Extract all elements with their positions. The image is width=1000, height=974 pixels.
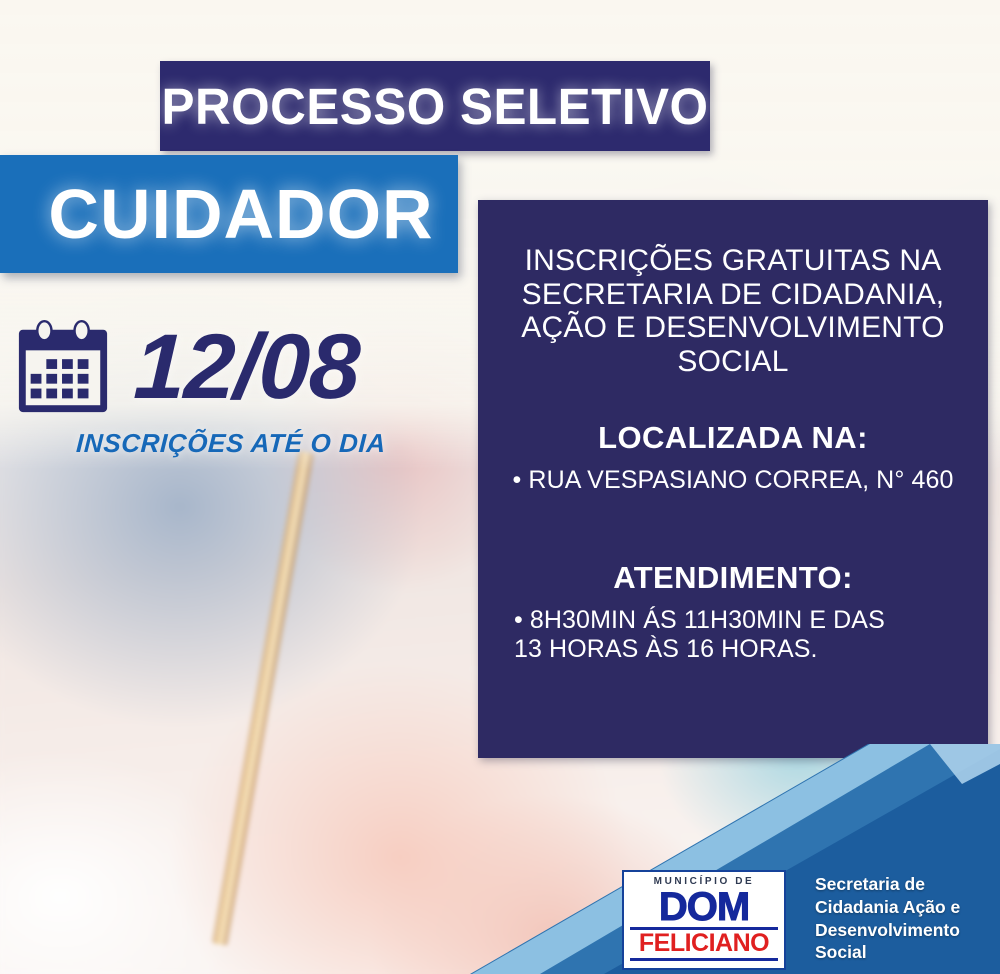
department-line-4: Social	[815, 941, 995, 964]
department-line-1: Secretaria de	[815, 873, 995, 896]
banner-cuidador: CUIDADOR	[0, 155, 458, 273]
poster-root: PROCESSO SELETIVO CUIDADOR	[0, 0, 1000, 974]
logo-divider-bottom	[630, 958, 778, 961]
processo-seletivo-title: PROCESSO SELETIVO	[161, 77, 708, 136]
cuidador-title: CUIDADOR	[24, 174, 433, 254]
registration-heading: INSCRIÇÕES GRATUITAS NA SECRETARIA DE CI…	[504, 244, 962, 378]
logo-feliciano-text: FELICIANO	[630, 931, 778, 956]
logo-dom-text: DOM	[630, 889, 778, 926]
hours-line-1: • 8H30MIN ÁS 11H30MIN E DAS	[504, 606, 962, 636]
location-label: LOCALIZADA NA:	[504, 420, 962, 456]
department-name: Secretaria de Cidadania Ação e Desenvolv…	[815, 873, 995, 964]
date-block: 12/08	[8, 308, 460, 426]
calendar-icon	[14, 318, 112, 416]
hours-label: ATENDIMENTO:	[504, 560, 962, 596]
department-line-2: Cidadania Ação e	[815, 896, 995, 919]
deadline-date: 12/08	[132, 321, 360, 413]
deadline-caption: INSCRIÇÕES ATÉ O DIA	[0, 428, 463, 459]
department-line-3: Desenvolvimento	[815, 919, 995, 942]
banner-processo-seletivo: PROCESSO SELETIVO	[160, 61, 710, 151]
municipality-logo: MUNICÍPIO DE DOM FELICIANO	[622, 870, 786, 970]
info-panel: INSCRIÇÕES GRATUITAS NA SECRETARIA DE CI…	[478, 200, 988, 758]
location-address: • RUA VESPASIANO CORREA, N° 460	[504, 466, 962, 496]
hours-line-2: 13 HORAS ÀS 16 HORAS.	[504, 635, 962, 665]
